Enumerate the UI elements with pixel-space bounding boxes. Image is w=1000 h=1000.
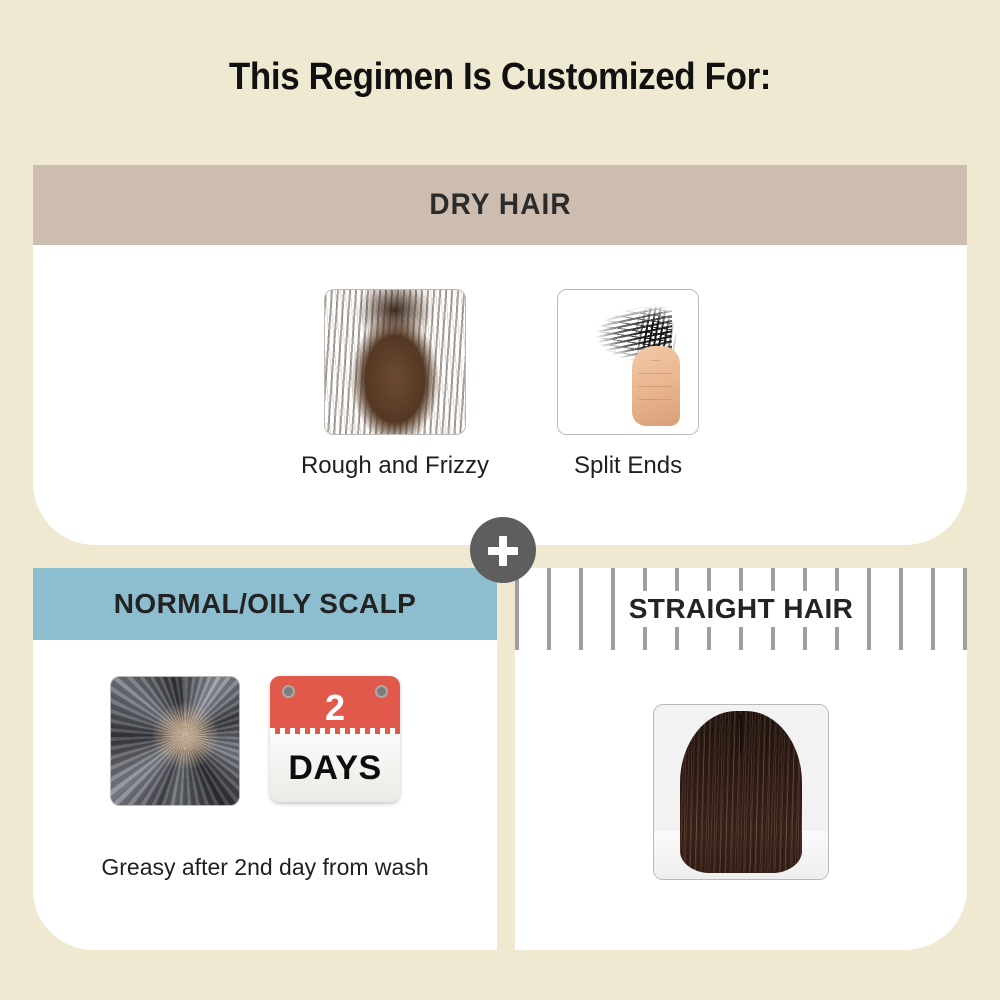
dry-hair-header-label: DRY HAIR — [429, 188, 571, 222]
normal-oily-scalp-header-label: NORMAL/OILY SCALP — [114, 588, 416, 620]
dry-hair-card-row: Rough and Frizzy Split Ends — [33, 289, 967, 480]
straight-hair-header-label: STRAIGHT HAIR — [619, 591, 864, 627]
normal-oily-scalp-header: NORMAL/OILY SCALP — [33, 568, 497, 640]
normal-oily-scalp-body: 2 DAYS Greasy after 2nd day from wash — [33, 640, 497, 950]
oily-scalp-texture — [111, 677, 239, 805]
split-ends-photo-frame — [557, 289, 699, 435]
scalp-card-row: 2 DAYS — [33, 676, 497, 806]
straight-hair-part-line — [740, 713, 742, 753]
split-ends-caption: Split Ends — [574, 452, 682, 480]
oily-scalp-caption: Greasy after 2nd day from wash — [33, 854, 497, 881]
dry-hair-header: DRY HAIR — [33, 165, 967, 245]
rough-frizzy-hair-photo — [325, 290, 465, 434]
rough-frizzy-photo-frame — [324, 289, 466, 435]
straight-hair-body — [515, 650, 967, 950]
calendar-perforation — [270, 728, 400, 735]
plus-icon — [470, 517, 536, 583]
calendar-day-number: 2 — [325, 690, 345, 726]
calendar-icon: 2 DAYS — [270, 676, 400, 802]
split-ends-hand — [632, 346, 680, 426]
split-ends-hair-photo — [558, 290, 698, 434]
calendar-header: 2 — [270, 676, 400, 734]
straight-hair-photo-frame — [653, 704, 829, 880]
straight-hair-header: STRAIGHT HAIR — [515, 568, 967, 650]
dry-hair-body: Rough and Frizzy Split Ends — [33, 245, 967, 545]
straight-hair-panel: STRAIGHT HAIR — [515, 568, 967, 950]
calendar-body: DAYS — [270, 734, 400, 802]
calendar-grommet-right-icon — [375, 685, 388, 698]
calendar-day-unit: DAYS — [288, 749, 381, 788]
page-title: This Regimen Is Customized For: — [40, 56, 960, 99]
oily-scalp-photo-frame — [110, 676, 240, 806]
dry-hair-card-split-ends[interactable]: Split Ends — [557, 289, 699, 480]
rough-frizzy-caption: Rough and Frizzy — [301, 452, 489, 480]
dry-hair-card-rough-frizzy[interactable]: Rough and Frizzy — [301, 289, 489, 480]
calendar-grommet-left-icon — [282, 685, 295, 698]
straight-hair-photo — [654, 705, 828, 879]
straight-hair-card-row — [515, 704, 967, 880]
dry-hair-panel: DRY HAIR Rough and Frizzy Split Ends — [33, 165, 967, 545]
normal-oily-scalp-panel: NORMAL/OILY SCALP 2 DAYS Grea — [33, 568, 497, 950]
oily-scalp-photo — [111, 677, 239, 805]
